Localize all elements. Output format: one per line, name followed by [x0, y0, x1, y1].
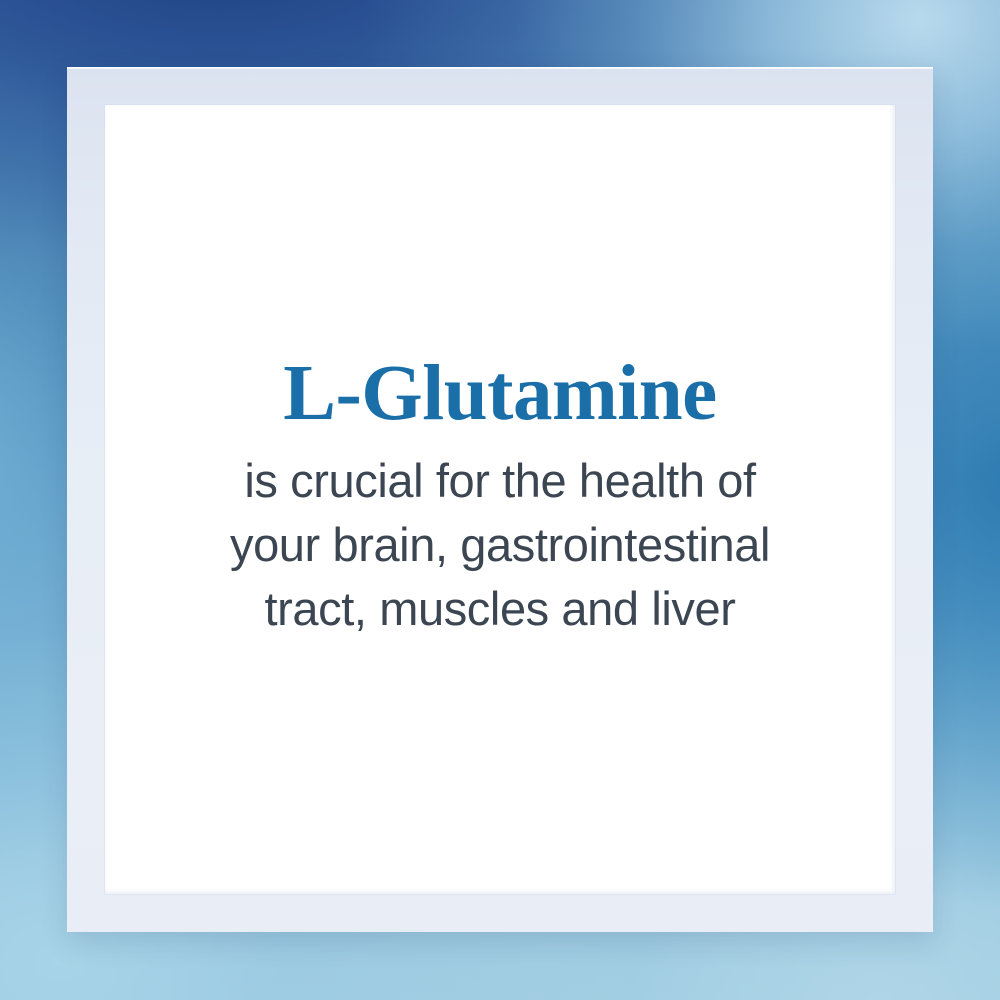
image-canvas: L-Glutamine is crucial for the health of… [0, 0, 1000, 1000]
headline-l-glutamine: L-Glutamine [105, 354, 895, 433]
text-block: L-Glutamine is crucial for the health of… [105, 354, 895, 645]
body-line-2: your brain, gastrointestinal [105, 513, 895, 577]
body-line-3: tract, muscles and liver [105, 577, 895, 641]
card-frame: L-Glutamine is crucial for the health of… [67, 67, 933, 932]
body-line-1: is crucial for the health of [105, 449, 895, 513]
white-card-panel: L-Glutamine is crucial for the health of… [105, 105, 895, 894]
